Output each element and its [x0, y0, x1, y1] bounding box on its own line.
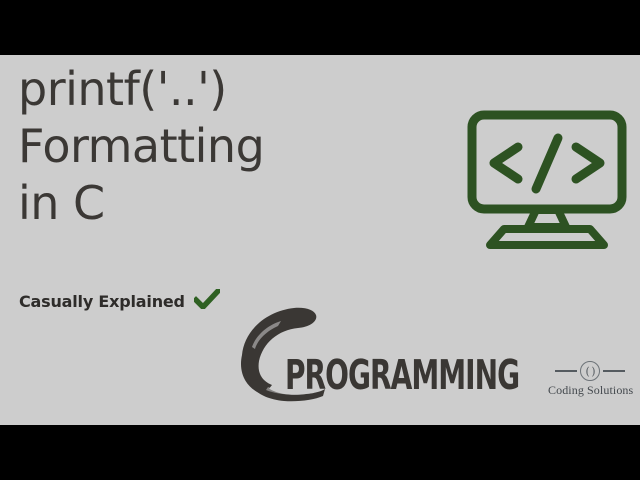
letterbox-bottom [0, 425, 640, 480]
video-thumbnail: printf('..') Formatting in C Casually Ex… [0, 0, 640, 480]
parentheses-circle-icon: ( ) [580, 361, 600, 381]
title-line-2: Formatting [18, 118, 448, 175]
watermark-rule-right [603, 370, 625, 372]
subtitle-label: Casually Explained [19, 292, 185, 311]
letterbox-top [0, 0, 640, 55]
title-line-1: printf('..') [18, 61, 448, 118]
coding-solutions-watermark: ( ) Coding Solutions [548, 360, 632, 398]
programming-word: PROGRAMMING [285, 351, 519, 399]
subtitle-row: Casually Explained [19, 289, 220, 313]
page-title: printf('..') Formatting in C [18, 61, 448, 232]
monitor-code-icon [466, 79, 628, 255]
check-mark-icon [194, 289, 220, 313]
c-programming-logo: PROGRAMMING [228, 303, 518, 403]
title-line-3: in C [18, 175, 448, 232]
watermark-emblem-row: ( ) [548, 360, 632, 382]
watermark-label: Coding Solutions [548, 383, 632, 398]
watermark-rule-left [555, 370, 577, 372]
thumbnail-canvas: printf('..') Formatting in C Casually Ex… [0, 55, 640, 425]
